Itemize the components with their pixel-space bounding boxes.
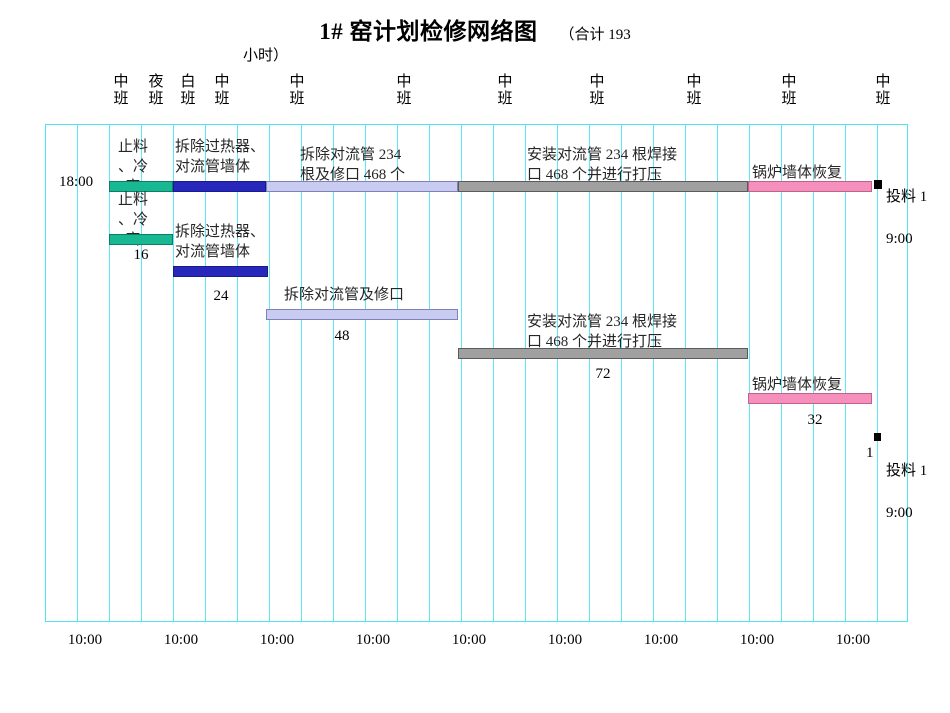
gridline	[397, 125, 398, 621]
task-label-guolu-qiangti-2: 锅炉墙体恢复	[752, 375, 877, 395]
start-time-label: 18:00	[59, 174, 93, 191]
shift-header-4-line1: 中	[286, 74, 308, 91]
task-label-chaichu-duiliuguan-1: 拆除对流管 234 根及修口 468 个	[300, 145, 460, 185]
shift-header-1-line2: 班	[145, 91, 167, 108]
axis-tick-4: 10:00	[439, 632, 499, 649]
milestone-label-toulao-2-line1: 投料 1	[886, 463, 927, 479]
gridline	[429, 125, 430, 621]
task-label-chaichu-guorequi-2: 拆除过热器、 对流管墙体	[175, 222, 305, 262]
task-label-anzhuang-duiliuguan-2: 安装对流管 234 根焊接 口 468 个并进行打压	[527, 312, 717, 352]
shift-header-5-line1: 中	[393, 74, 415, 91]
gridline	[333, 125, 334, 621]
axis-tick-5: 10:00	[535, 632, 595, 649]
gridline	[173, 125, 174, 621]
gantt-bar-anzhuang-duiliuguan-1[interactable]	[458, 181, 748, 192]
gantt-bar-chaichu-duiliuguan-1[interactable]	[266, 181, 458, 192]
milestone-marker-toulao-2[interactable]	[874, 433, 881, 441]
shift-header-0: 中 班	[110, 74, 132, 108]
shift-header-0-line2: 班	[110, 91, 132, 108]
shift-header-3-line2: 班	[211, 91, 233, 108]
gantt-bar-guolu-qiangti-1[interactable]	[748, 181, 872, 192]
page-title: 1# 窑计划检修网络图	[319, 19, 537, 44]
milestone-label-toulao-1-line2: 9:00	[886, 231, 913, 247]
shift-header-9-line1: 中	[778, 74, 800, 91]
shift-header-7-line1: 中	[586, 74, 608, 91]
milestone-marker-toulao-1[interactable]	[874, 180, 882, 189]
shift-header-3: 中 班	[211, 74, 233, 108]
milestone-label-toulao-1: 投料 1 9:00	[886, 166, 950, 250]
gridline	[365, 125, 366, 621]
shift-header-8-line1: 中	[683, 74, 705, 91]
gridline	[525, 125, 526, 621]
gridline	[685, 125, 686, 621]
shift-header-2-line2: 班	[177, 91, 199, 108]
gantt-bar-anzhuang-duiliuguan-2[interactable]	[458, 348, 748, 359]
chart-subtitle: （合计 193	[559, 27, 630, 43]
gridline	[301, 125, 302, 621]
shift-header-10-line1: 中	[872, 74, 894, 91]
axis-tick-0: 10:00	[55, 632, 115, 649]
task-label-chaichu-duiliuguan-2: 拆除对流管及修口	[284, 285, 464, 305]
shift-header-9: 中 班	[778, 74, 800, 108]
gridline	[813, 125, 814, 621]
axis-tick-3: 10:00	[343, 632, 403, 649]
gridline	[653, 125, 654, 621]
gantt-bar-guolu-qiangti-2[interactable]	[748, 393, 872, 404]
gridline	[205, 125, 206, 621]
task-label-guolu-qiangti-1: 锅炉墙体恢复	[752, 163, 877, 183]
milestone-duration-toulao-2: 1	[866, 445, 886, 462]
gantt-bar-zhiliao-lengyao-2[interactable]	[109, 234, 173, 245]
shift-header-4-line2: 班	[286, 91, 308, 108]
milestone-label-toulao-2: 投料 1 9:00	[886, 440, 950, 524]
gantt-plot-area	[45, 124, 908, 622]
axis-tick-7: 10:00	[727, 632, 787, 649]
shift-header-1-line1: 夜	[145, 74, 167, 91]
shift-header-0-line1: 中	[110, 74, 132, 91]
task-label-chaichu-guorequi-1: 拆除过热器、 对流管墙体	[175, 137, 305, 177]
chart-title-block: 1# 窑计划检修网络图（合计 193	[0, 12, 950, 46]
shift-header-6: 中 班	[494, 74, 516, 108]
shift-header-9-line2: 班	[778, 91, 800, 108]
gridline	[269, 125, 270, 621]
gantt-bar-chaichu-guorequi-2[interactable]	[173, 266, 268, 277]
axis-tick-2: 10:00	[247, 632, 307, 649]
duration-label-anzhuang-duiliuguan: 72	[578, 366, 628, 383]
gridline	[781, 125, 782, 621]
gridline	[461, 125, 462, 621]
gridline	[109, 125, 110, 621]
axis-tick-1: 10:00	[151, 632, 211, 649]
shift-header-10-line2: 班	[872, 91, 894, 108]
shift-header-7-line2: 班	[586, 91, 608, 108]
chart-subtitle-line2: 小时）	[243, 44, 443, 65]
duration-label-zhiliao-lengyao: 16	[116, 247, 166, 264]
shift-header-10: 中 班	[872, 74, 894, 108]
shift-header-4: 中 班	[286, 74, 308, 108]
shift-header-2: 白 班	[177, 74, 199, 108]
gridline	[237, 125, 238, 621]
shift-header-6-line1: 中	[494, 74, 516, 91]
shift-header-7: 中 班	[586, 74, 608, 108]
shift-header-5-line2: 班	[393, 91, 415, 108]
gridline	[877, 125, 878, 621]
task-label-anzhuang-duiliuguan-1: 安装对流管 234 根焊接 口 468 个并进行打压	[527, 145, 717, 185]
axis-tick-8: 10:00	[823, 632, 883, 649]
gantt-bar-chaichu-guorequi-1[interactable]	[173, 181, 266, 192]
shift-header-6-line2: 班	[494, 91, 516, 108]
gridline	[557, 125, 558, 621]
shift-header-2-line1: 白	[177, 74, 199, 91]
gantt-bar-chaichu-duiliuguan-2[interactable]	[266, 309, 458, 320]
shift-header-3-line1: 中	[211, 74, 233, 91]
shift-header-5: 中 班	[393, 74, 415, 108]
duration-label-chaichu-duiliuguan: 48	[317, 328, 367, 345]
shift-header-8: 中 班	[683, 74, 705, 108]
gridline	[845, 125, 846, 621]
duration-label-guolu-qiangti: 32	[790, 412, 840, 429]
shift-header-8-line2: 班	[683, 91, 705, 108]
shift-header-1: 夜 班	[145, 74, 167, 108]
milestone-label-toulao-1-line1: 投料 1	[886, 189, 927, 205]
gridline	[77, 125, 78, 621]
axis-tick-6: 10:00	[631, 632, 691, 649]
gridline	[749, 125, 750, 621]
gridline	[493, 125, 494, 621]
duration-label-chaichu-guorequi: 24	[196, 288, 246, 305]
gridline	[717, 125, 718, 621]
milestone-label-toulao-2-line2: 9:00	[886, 505, 913, 521]
